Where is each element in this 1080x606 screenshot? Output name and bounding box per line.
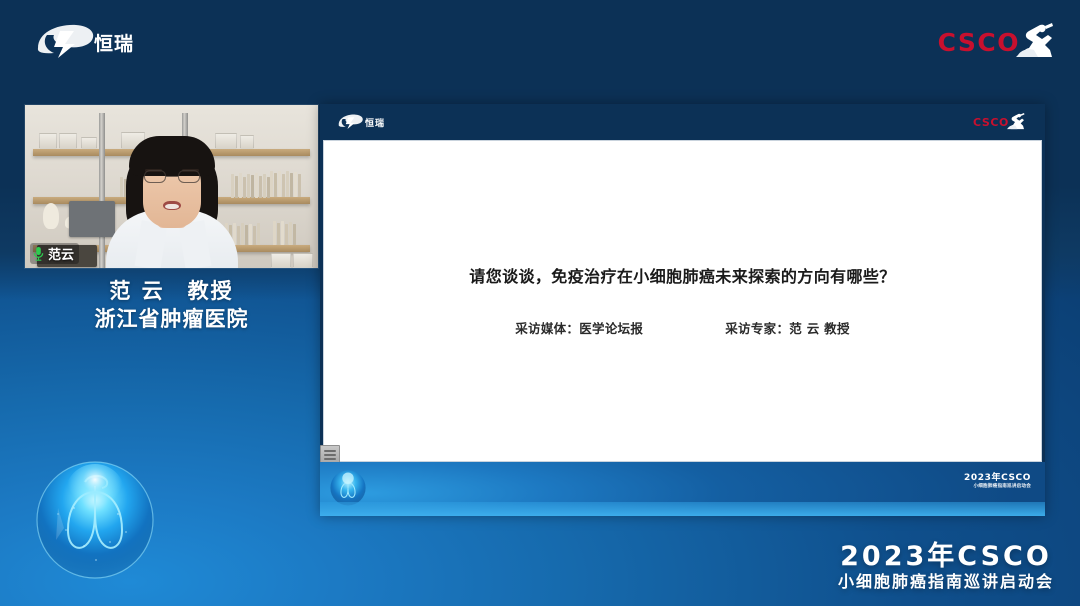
hengrui-cn-label: 恒瑞 bbox=[365, 116, 385, 129]
slide-meta-row: 采访媒体：医学论坛报 采访专家：范 云 教授 bbox=[324, 318, 1041, 337]
slide-content-area: 请您谈谈，免疫治疗在小细胞肺癌未来探索的方向有哪些？ 采访媒体：医学论坛报 采访… bbox=[323, 140, 1042, 462]
video-name-badge: 范云 bbox=[30, 243, 79, 264]
presenter-glasses bbox=[144, 170, 200, 184]
slide-footer-brand: 2023年CSCO 小细胞肺癌指南巡讲启动会 bbox=[964, 474, 1031, 489]
slide-question-text: 请您谈谈，免疫治疗在小细胞肺癌未来探索的方向有哪些？ bbox=[324, 263, 1041, 287]
csco-logo: CSCO bbox=[938, 23, 1054, 61]
lung-globe-icon bbox=[326, 465, 370, 509]
event-brand: 2023年CSCO 小细胞肺癌指南巡讲启动会 bbox=[838, 542, 1054, 592]
presenter-org-label: 浙江省肿瘤医院 bbox=[25, 306, 318, 334]
presenter-mouth bbox=[163, 201, 181, 210]
slide-meta-media: 采访媒体：医学论坛报 bbox=[515, 318, 643, 337]
slide-footer-bar: 2023年CSCO 小细胞肺癌指南巡讲启动会 bbox=[320, 462, 1045, 516]
hengrui-mark-icon bbox=[34, 22, 96, 62]
video-name-label: 范云 bbox=[48, 244, 74, 263]
event-subtitle: 小细胞肺癌指南巡讲启动会 bbox=[838, 572, 1054, 592]
csco-figure-icon bbox=[1005, 113, 1025, 131]
csco-figure-icon bbox=[1012, 23, 1054, 61]
slide-hengrui-logo: 恒瑞 bbox=[337, 113, 385, 131]
microphone-icon bbox=[32, 246, 45, 261]
csco-text-label: CSCO bbox=[973, 116, 1009, 129]
slide-csco-logo: CSCO bbox=[973, 113, 1025, 131]
slide-meta-expert: 采访专家：范 云 教授 bbox=[725, 318, 850, 337]
slide-footer-brand-title: 2023年CSCO bbox=[964, 474, 1031, 484]
slide-top-bar: 恒瑞 CSCO bbox=[320, 104, 1045, 140]
broadcast-stage: 恒瑞 CSCO bbox=[0, 0, 1080, 606]
shared-slide-window[interactable]: 恒瑞 CSCO 请您谈谈，免疫治疗在小细胞肺癌未来探索的方向有哪些？ 采访媒体：… bbox=[320, 104, 1045, 516]
presenter-name-label: 范 云 教授 bbox=[25, 278, 318, 306]
top-header-band bbox=[0, 0, 1080, 92]
slide-footer-brand-subtitle: 小细胞肺癌指南巡讲启动会 bbox=[964, 484, 1031, 490]
lung-globe-icon bbox=[22, 442, 168, 588]
csco-text-label: CSCO bbox=[938, 28, 1020, 57]
presenter-video-tile[interactable]: 范云 bbox=[25, 105, 318, 268]
hengrui-logo: 恒瑞 bbox=[34, 22, 134, 62]
hengrui-cn-label: 恒瑞 bbox=[94, 29, 134, 56]
hengrui-mark-icon bbox=[337, 113, 364, 131]
presenter-caption: 范 云 教授 浙江省肿瘤医院 bbox=[25, 278, 318, 333]
event-title: 2023年CSCO bbox=[838, 542, 1054, 571]
